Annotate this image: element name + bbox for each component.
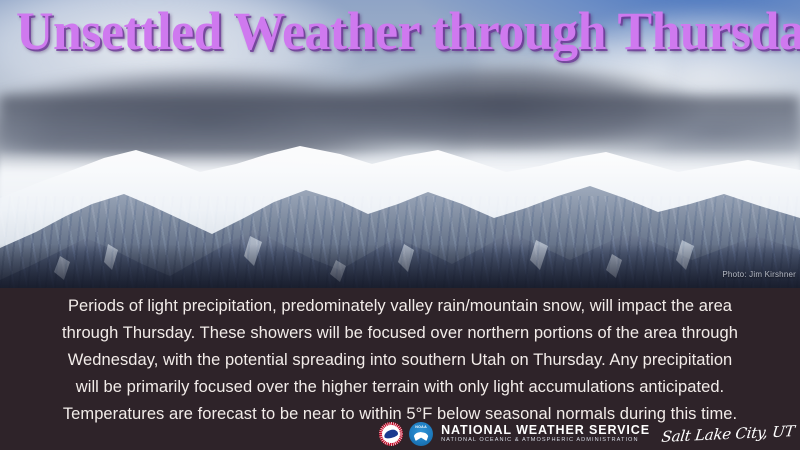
office-location: Salt Lake City, UT <box>661 422 796 446</box>
noaa-badge-text: NOAA <box>415 425 427 430</box>
forecast-line: through Thursday. These showers will be … <box>8 320 792 347</box>
agency-name: NATIONAL WEATHER SERVICE <box>441 424 650 437</box>
seal-ring-detail <box>379 422 403 446</box>
text-panel: Periods of light precipitation, predomin… <box>0 288 800 450</box>
foreground-shadow <box>0 244 800 288</box>
forecast-line: Periods of light precipitation, predomin… <box>8 293 792 320</box>
forecast-discussion: Periods of light precipitation, predomin… <box>8 293 792 428</box>
agency-parent-name: NATIONAL OCEANIC & ATMOSPHERIC ADMINISTR… <box>441 438 650 444</box>
agency-wordmark: NATIONAL WEATHER SERVICE NATIONAL OCEANI… <box>441 424 650 444</box>
weather-graphic: Photo: Jim Kirshner Unsettled Weather th… <box>0 0 800 450</box>
headline-title: Unsettled Weather through Thursday <box>16 2 784 60</box>
noaa-logo-icon: NOAA <box>409 422 433 446</box>
nws-seal-icon <box>379 422 403 446</box>
forecast-line: will be primarily focused over the highe… <box>8 374 792 401</box>
agency-footer: NOAA NATIONAL WEATHER SERVICE NATIONAL O… <box>0 418 800 450</box>
forecast-line: Wednesday, with the potential spreading … <box>8 347 792 374</box>
photo-credit: Photo: Jim Kirshner <box>722 270 796 279</box>
